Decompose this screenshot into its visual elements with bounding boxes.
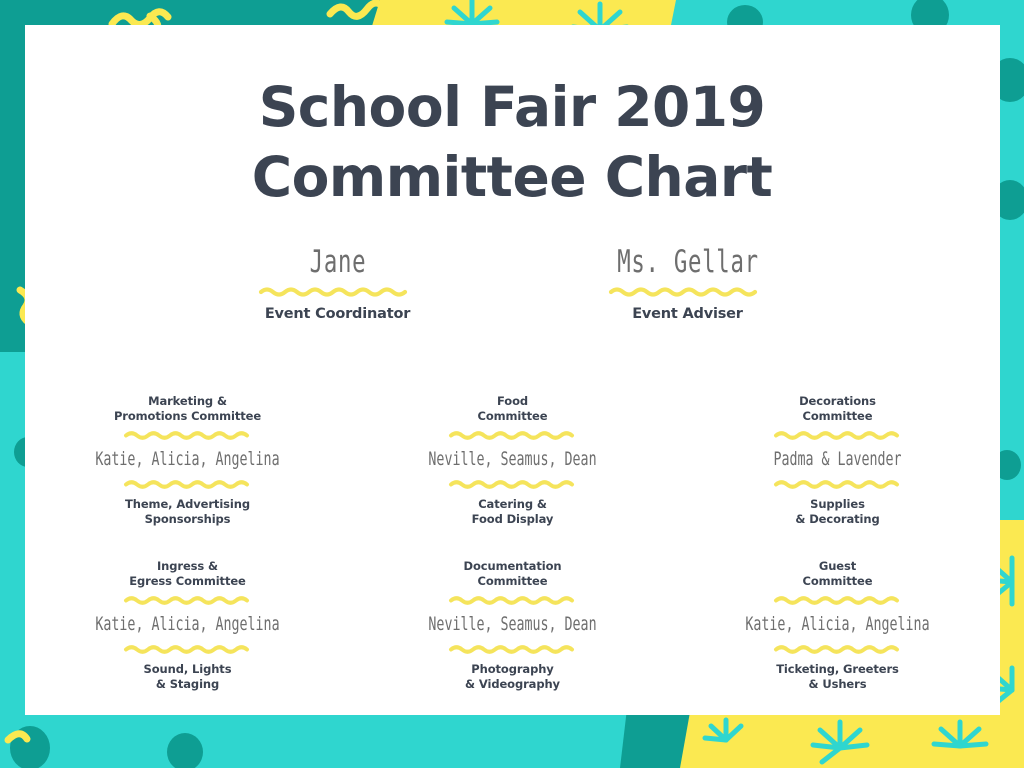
committee-card-decorations: Decorations Committee Padma & Lavender S… [675, 392, 1000, 557]
committee-title-line-2: Promotions Committee [114, 409, 261, 423]
wavy-divider [608, 286, 768, 298]
committee-title-line-2: Committee [478, 409, 548, 423]
committee-duties-line-1: Ticketing, Greeters [776, 662, 899, 676]
committee-duties-line-2: & Ushers [809, 677, 867, 691]
title-line-2: Committee Chart [0, 142, 1024, 212]
committee-card-guest: Guest Committee Katie, Alicia, Angelina … [675, 557, 1000, 722]
committee-title-line-1: Decorations [799, 394, 876, 408]
wavy-divider [123, 595, 253, 606]
committee-card-ingress-egress: Ingress & Egress Committee Katie, Alicia… [25, 557, 350, 722]
committee-duties: Theme, Advertising Sponsorships [25, 497, 350, 526]
wavy-divider [448, 430, 578, 441]
committee-members: Katie, Alicia, Angelina [74, 448, 302, 472]
leader-role: Event Coordinator [223, 306, 453, 322]
committee-title: Marketing & Promotions Committee [25, 394, 350, 423]
committee-title-line-2: Committee [803, 574, 873, 588]
committee-members: Padma & Lavender [724, 448, 952, 472]
title-line-1: School Fair 2019 [0, 72, 1024, 142]
committee-duties-line-1: Catering & [478, 497, 547, 511]
wavy-divider [123, 479, 253, 490]
committee-title-line-1: Documentation [464, 559, 562, 573]
leadership-row: Jane Event Coordinator Ms. Gellar Event … [25, 245, 1000, 322]
committee-duties-line-1: Sound, Lights [144, 662, 232, 676]
committee-title-line-2: Committee [478, 574, 548, 588]
committee-duties-line-2: Food Display [472, 512, 554, 526]
page-title: School Fair 2019 Committee Chart [0, 72, 1024, 213]
committee-members: Neville, Seamus, Dean [399, 448, 627, 472]
committee-members: Neville, Seamus, Dean [399, 613, 627, 637]
committee-duties-line-1: Supplies [810, 497, 865, 511]
leader-role: Event Adviser [573, 306, 803, 322]
committee-duties-line-2: & Decorating [795, 512, 879, 526]
leader-card-coordinator: Jane Event Coordinator [223, 245, 453, 322]
wavy-divider [773, 479, 903, 490]
committee-duties: Photography & Videography [350, 662, 675, 691]
wavy-divider [448, 644, 578, 655]
leader-name: Ms. Gellar [605, 245, 771, 279]
committee-duties-line-1: Photography [471, 662, 553, 676]
wavy-divider [448, 479, 578, 490]
wavy-divider [773, 595, 903, 606]
committee-title-line-1: Marketing & [148, 394, 227, 408]
committee-members: Katie, Alicia, Angelina [724, 613, 952, 637]
committee-title: Decorations Committee [675, 394, 1000, 423]
committee-title: Guest Committee [675, 559, 1000, 588]
wavy-divider [123, 644, 253, 655]
committee-title-line-2: Egress Committee [129, 574, 246, 588]
committee-members: Katie, Alicia, Angelina [74, 613, 302, 637]
committee-card-food: Food Committee Neville, Seamus, Dean Cat… [350, 392, 675, 557]
committee-duties-line-2: & Videography [465, 677, 560, 691]
committee-card-marketing-promotions: Marketing & Promotions Committee Katie, … [25, 392, 350, 557]
committee-duties: Sound, Lights & Staging [25, 662, 350, 691]
wavy-divider [773, 430, 903, 441]
committee-duties: Supplies & Decorating [675, 497, 1000, 526]
committee-title-line-1: Guest [819, 559, 856, 573]
wavy-divider [123, 430, 253, 441]
committee-duties-line-2: & Staging [156, 677, 219, 691]
committee-title-line-2: Committee [803, 409, 873, 423]
committee-grid: Marketing & Promotions Committee Katie, … [25, 392, 1000, 722]
committee-title-line-1: Ingress & [157, 559, 218, 573]
committee-title-line-1: Food [497, 394, 528, 408]
wavy-divider [773, 644, 903, 655]
committee-title: Ingress & Egress Committee [25, 559, 350, 588]
committee-card-documentation: Documentation Committee Neville, Seamus,… [350, 557, 675, 722]
committee-duties-line-2: Sponsorships [145, 512, 231, 526]
committee-duties-line-1: Theme, Advertising [125, 497, 250, 511]
poster-canvas: School Fair 2019 Committee Chart Jane Ev… [0, 0, 1024, 768]
committee-title: Documentation Committee [350, 559, 675, 588]
leader-card-adviser: Ms. Gellar Event Adviser [573, 245, 803, 322]
committee-duties: Ticketing, Greeters & Ushers [675, 662, 1000, 691]
committee-duties: Catering & Food Display [350, 497, 675, 526]
leader-name: Jane [255, 245, 421, 279]
wavy-divider [448, 595, 578, 606]
committee-title: Food Committee [350, 394, 675, 423]
wavy-divider [258, 286, 418, 298]
